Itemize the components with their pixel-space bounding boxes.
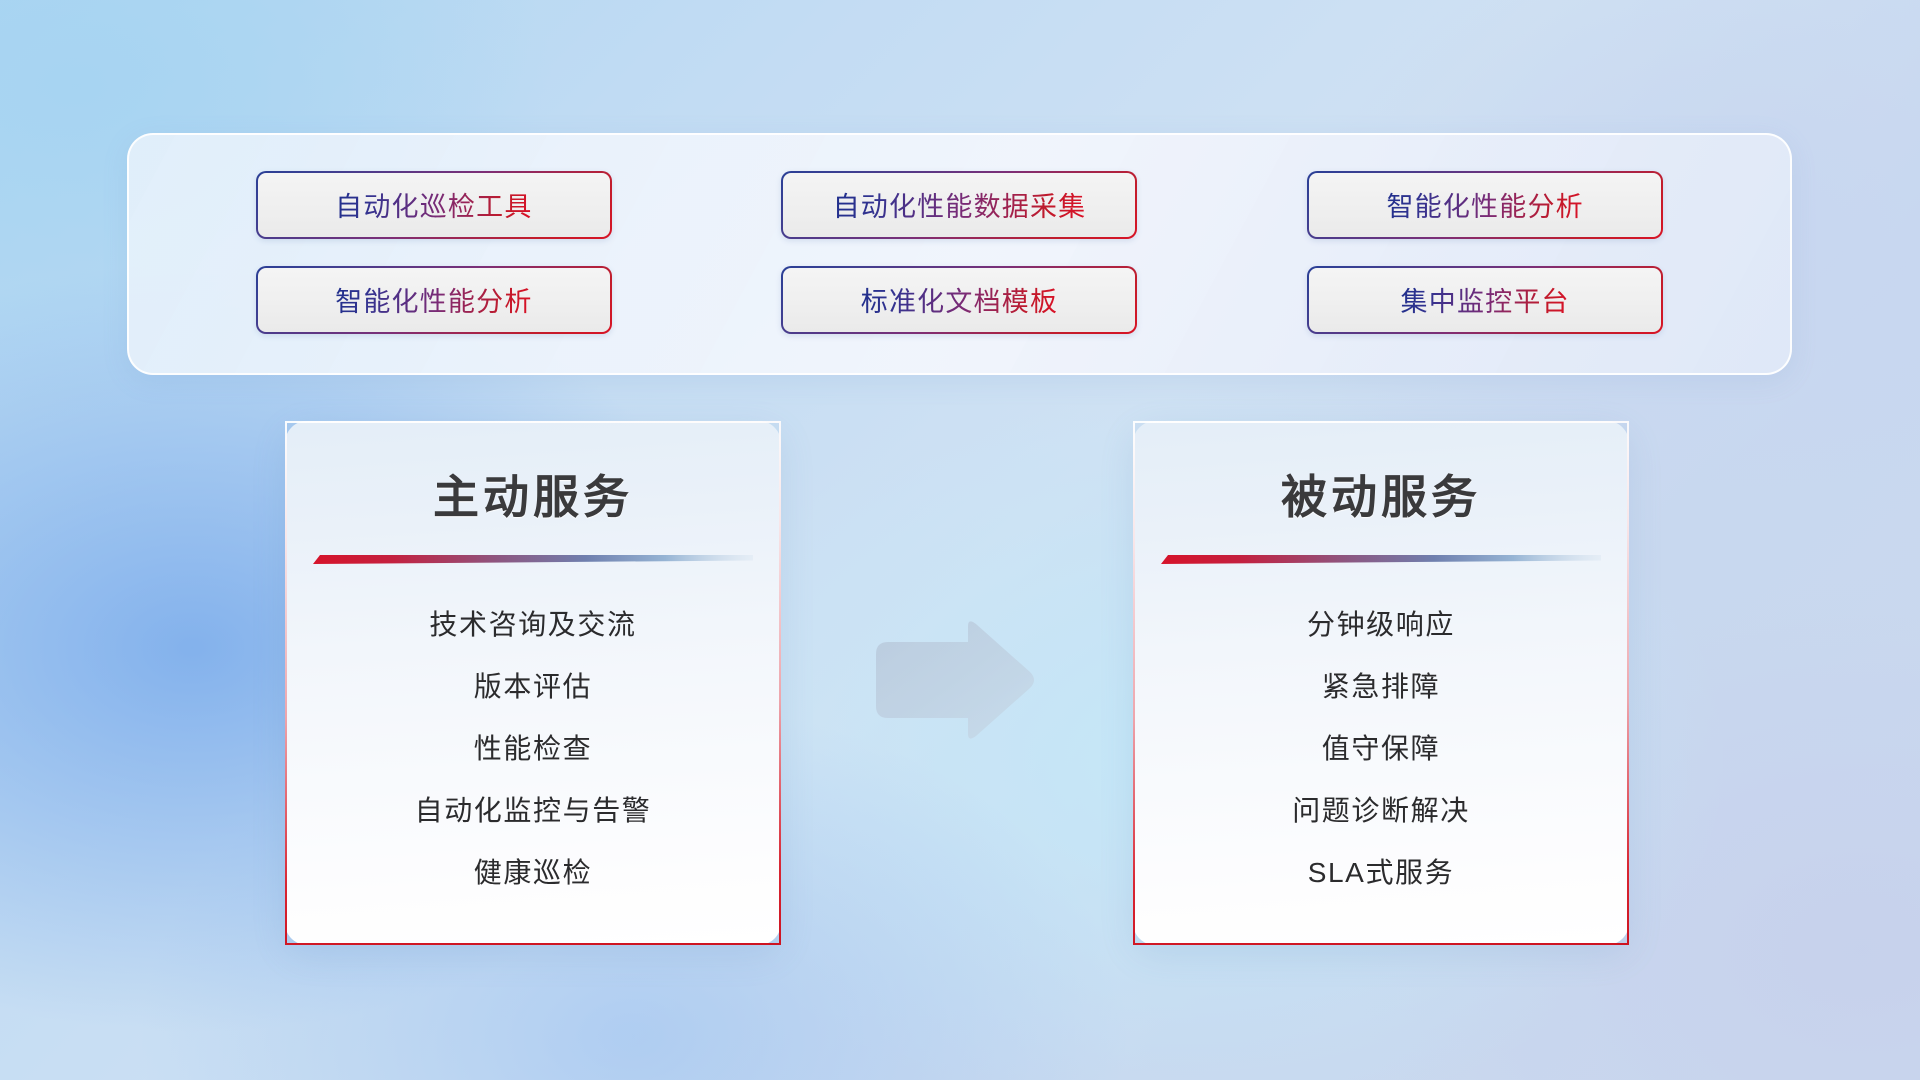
service-card-title: 主动服务 (287, 423, 779, 527)
capability-tag-label: 智能化性能分析 (1386, 185, 1583, 224)
card-divider (313, 553, 753, 564)
capability-tag-surface: 标准化文档模板 (783, 268, 1135, 332)
capability-tag-label: 自动化性能数据采集 (833, 185, 1087, 224)
capability-tag[interactable]: 自动化性能数据采集 (781, 171, 1137, 239)
service-list-item: 问题诊断解决 (1157, 780, 1605, 842)
capability-tag[interactable]: 自动化巡检工具 (256, 171, 612, 239)
capability-tag-label: 集中监控平台 (1401, 280, 1570, 319)
capability-tag[interactable]: 标准化文档模板 (781, 266, 1137, 334)
service-card-passive: 被动服务 分钟级响应 紧急排障 值守保障 (1133, 421, 1629, 945)
service-list-item: 自动化监控与告警 (309, 780, 757, 842)
service-list-item: 健康巡检 (309, 842, 757, 904)
capability-tag-surface: 自动化性能数据采集 (783, 173, 1135, 237)
capability-tag-surface: 智能化性能分析 (1309, 173, 1661, 237)
capability-tag[interactable]: 智能化性能分析 (256, 266, 612, 334)
capability-tag[interactable]: 集中监控平台 (1307, 266, 1663, 334)
service-list-item: 分钟级响应 (1157, 594, 1605, 656)
card-divider (1161, 553, 1601, 564)
service-list-item: 值守保障 (1157, 718, 1605, 780)
capability-tag-surface: 智能化性能分析 (258, 268, 610, 332)
capability-tag-label: 智能化性能分析 (335, 280, 532, 319)
service-list-item: 技术咨询及交流 (309, 594, 757, 656)
service-item-list: 分钟级响应 紧急排障 值守保障 问题诊断解决 SLA式服务 (1135, 564, 1627, 904)
service-item-list: 技术咨询及交流 版本评估 性能检查 自动化监控与告警 健康巡检 (287, 564, 779, 904)
capability-tag[interactable]: 智能化性能分析 (1307, 171, 1663, 239)
service-list-item: 性能检查 (309, 718, 757, 780)
capability-tag-surface: 集中监控平台 (1309, 268, 1661, 332)
capability-tag-surface: 自动化巡检工具 (258, 173, 610, 237)
service-list-item: SLA式服务 (1157, 842, 1605, 904)
arrow-right-icon (872, 620, 1037, 740)
capability-tag-label: 自动化巡检工具 (335, 185, 532, 224)
service-list-item: 版本评估 (309, 656, 757, 718)
service-card-title: 被动服务 (1135, 423, 1627, 527)
capability-tag-label: 标准化文档模板 (861, 280, 1058, 319)
capability-tag-grid: 自动化巡检工具 自动化性能数据采集 智能化性能分析 智能化性能分析 (129, 135, 1790, 373)
service-list-item: 紧急排障 (1157, 656, 1605, 718)
slide-canvas: 自动化巡检工具 自动化性能数据采集 智能化性能分析 智能化性能分析 (0, 0, 1920, 1080)
capability-panel: 自动化巡检工具 自动化性能数据采集 智能化性能分析 智能化性能分析 (127, 133, 1792, 375)
service-card-active: 主动服务 技术咨询及交流 版本评估 性能检查 (285, 421, 781, 945)
